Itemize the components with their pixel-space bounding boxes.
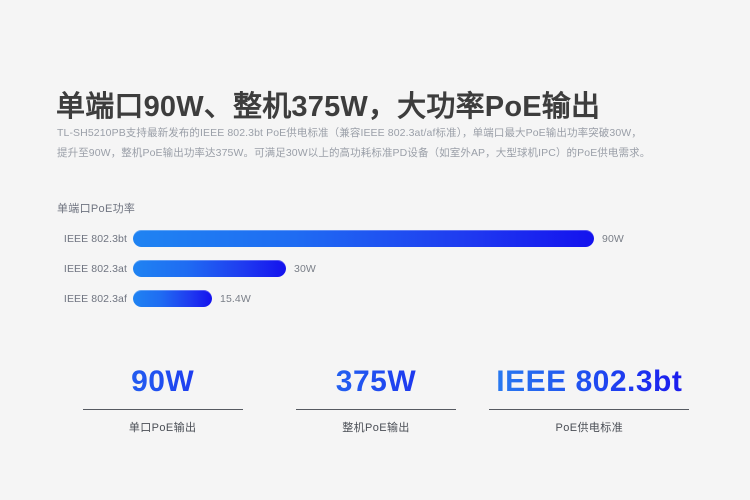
poe-feature-page: 单端口90W、整机375W，大功率PoE输出 TL-SH5210PB支持最新发布… [0,0,750,500]
bar-track [133,230,594,247]
bar-fill [133,260,286,277]
stat-value: 90W [56,362,269,402]
bar-row: IEEE 802.3af 15.4W [56,290,696,307]
bar-value-label: 30W [294,263,316,275]
description-line-1: TL-SH5210PB支持最新发布的IEEE 802.3bt PoE供电标准（兼… [57,123,721,143]
stat-card-single-port: 90W 单口PoE输出 [56,362,269,435]
stat-divider [296,409,456,410]
stat-card-standard: IEEE 802.3bt PoE供电标准 [483,362,696,435]
stat-caption: 单口PoE输出 [56,419,269,435]
stat-caption: 整机PoE输出 [269,419,482,435]
bar-value-label: 15.4W [220,293,251,305]
description-paragraph: TL-SH5210PB支持最新发布的IEEE 802.3bt PoE供电标准（兼… [57,123,721,163]
description-line-2: 提升至90W，整机PoE输出功率达375W。可满足30W以上的高功耗标准PD设备… [57,143,721,163]
bar-value-label: 90W [602,233,624,245]
stat-card-total-power: 375W 整机PoE输出 [269,362,482,435]
stat-caption: PoE供电标准 [483,419,696,435]
bar-fill [133,230,594,247]
bar-row: IEEE 802.3bt 90W [56,230,696,247]
stat-divider [489,409,689,410]
bar-rows: IEEE 802.3bt 90W IEEE 802.3at 30W IEEE 8… [56,230,696,307]
stat-value: IEEE 802.3bt [483,362,696,402]
bar-row: IEEE 802.3at 30W [56,260,696,277]
page-title: 单端口90W、整机375W，大功率PoE输出 [56,87,600,127]
bar-track [133,260,286,277]
stat-divider [83,409,243,410]
bar-category-label: IEEE 802.3at [56,263,133,275]
bar-track [133,290,212,307]
stat-value: 375W [269,362,482,402]
bar-category-label: IEEE 802.3af [56,293,133,305]
chart-title: 单端口PoE功率 [56,200,696,216]
bar-category-label: IEEE 802.3bt [56,233,133,245]
bar-fill [133,290,212,307]
poe-power-bar-chart: 单端口PoE功率 IEEE 802.3bt 90W IEEE 802.3at 3… [56,200,696,307]
stats-summary: 90W 单口PoE输出 375W 整机PoE输出 IEEE 802.3bt Po… [56,362,696,435]
